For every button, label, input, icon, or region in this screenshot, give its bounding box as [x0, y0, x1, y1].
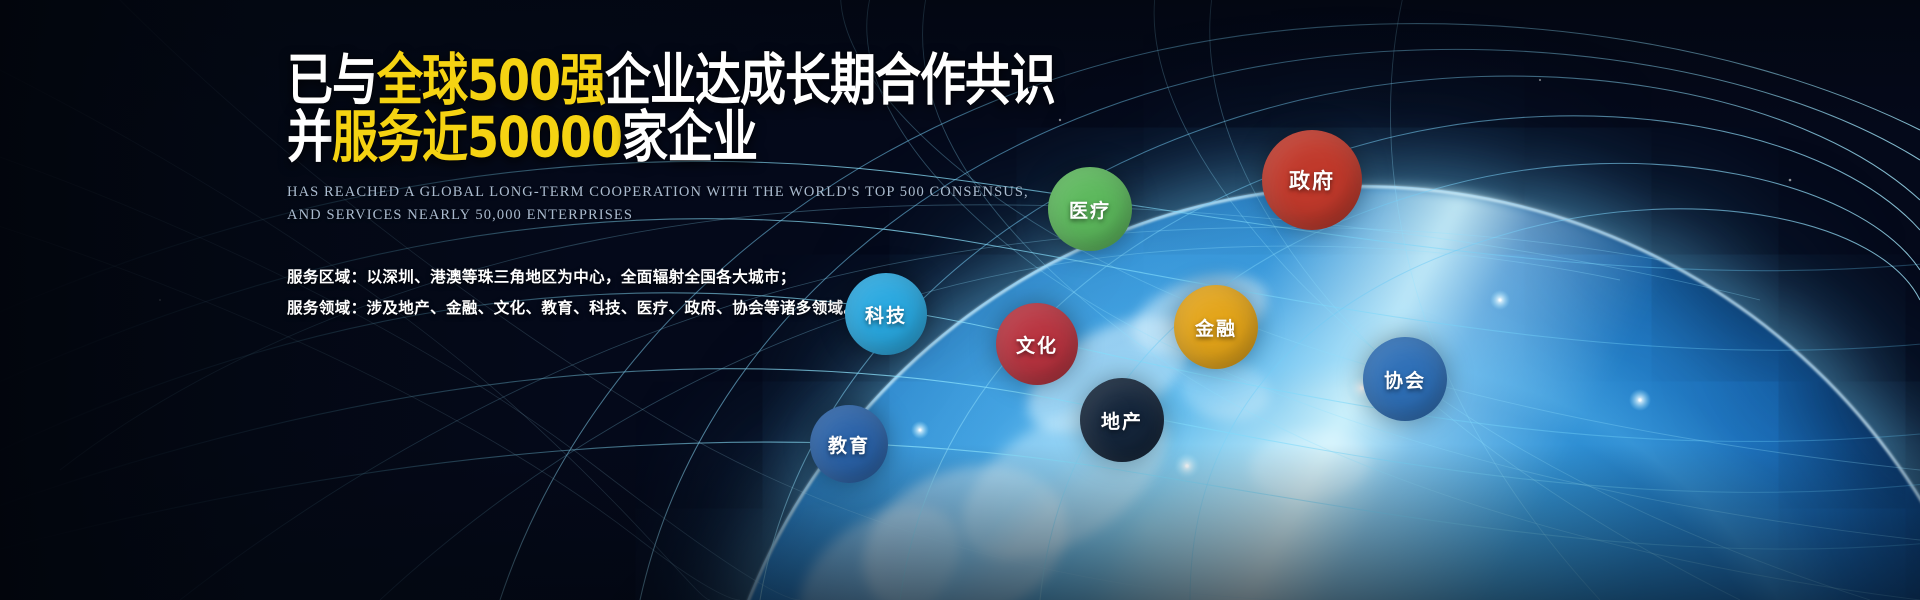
headline-seg: 已与 — [287, 47, 377, 113]
category-bubble-label: 教育 — [828, 431, 870, 458]
category-bubble[interactable]: 地产 — [1080, 378, 1164, 462]
headline-line-1: 已与全球500强企业达成长期合作共识 — [287, 52, 1047, 108]
service-description: 服务区域：以深圳、港澳等珠三角地区为中心，全面辐射全国各大城市； 服务领域：涉及… — [287, 262, 1047, 324]
promo-banner: 已与全球500强企业达成长期合作共识 并服务近50000家企业 HAS REAC… — [0, 0, 1920, 600]
category-bubble-label: 地产 — [1101, 407, 1143, 434]
service-area-line: 服务区域：以深圳、港澳等珠三角地区为中心，全面辐射全国各大城市； — [287, 262, 1047, 293]
headline-seg-highlight: 全球500强 — [377, 47, 605, 113]
english-subtitle-line-1: HAS REACHED A GLOBAL LONG-TERM COOPERATI… — [287, 181, 1047, 204]
service-field-line: 服务领域：涉及地产、金融、文化、教育、科技、医疗、政府、协会等诸多领域。 — [287, 293, 1047, 324]
category-bubble[interactable]: 医疗 — [1048, 167, 1132, 251]
headline-seg: 家企业 — [622, 104, 757, 170]
category-bubble-label: 政府 — [1289, 165, 1335, 195]
category-bubble[interactable]: 协会 — [1363, 337, 1447, 421]
headline-seg: 企业达成长期合作共识 — [605, 47, 1055, 113]
headline: 已与全球500强企业达成长期合作共识 并服务近50000家企业 — [287, 52, 1047, 155]
banner-text-block: 已与全球500强企业达成长期合作共识 并服务近50000家企业 HAS REAC… — [287, 52, 1047, 324]
category-bubble[interactable]: 文化 — [996, 303, 1078, 385]
category-bubble-label: 医疗 — [1069, 196, 1111, 223]
category-bubble[interactable]: 金融 — [1174, 285, 1258, 369]
category-bubble-label: 科技 — [865, 301, 907, 328]
headline-line-2: 并服务近50000家企业 — [287, 109, 1047, 165]
category-bubble-label: 协会 — [1384, 366, 1426, 393]
category-bubble[interactable]: 教育 — [810, 405, 888, 483]
category-bubble[interactable]: 政府 — [1262, 130, 1362, 230]
english-subtitle: HAS REACHED A GLOBAL LONG-TERM COOPERATI… — [287, 181, 1047, 228]
category-bubble[interactable]: 科技 — [845, 273, 927, 355]
headline-seg-highlight: 服务近50000 — [332, 104, 622, 170]
headline-seg: 并 — [287, 104, 332, 170]
category-bubble-label: 金融 — [1195, 314, 1237, 341]
category-bubble-label: 文化 — [1016, 331, 1058, 358]
english-subtitle-line-2: AND SERVICES NEARLY 50,000 ENTERPRISES — [287, 204, 1047, 227]
